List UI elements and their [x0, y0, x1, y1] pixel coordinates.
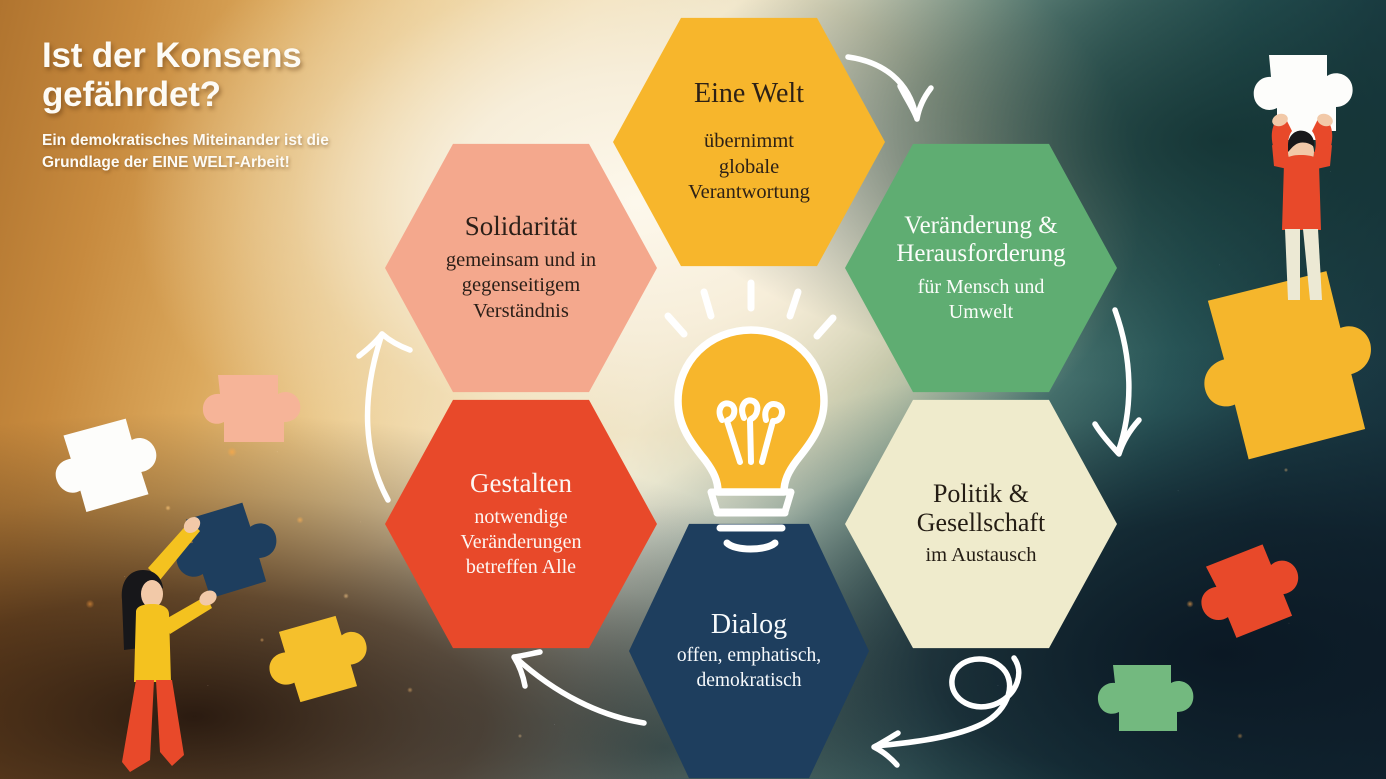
- page-title: Ist der Konsens gefährdet?: [42, 36, 382, 114]
- hexagon-subtitle: für Mensch und Umwelt: [918, 275, 1045, 325]
- hexagon-subtitle-line: betreffen Alle: [460, 555, 581, 580]
- hexagon-title-line: Gesellschaft: [917, 508, 1046, 537]
- hexagon-subtitle-line: übernimmt: [688, 129, 810, 155]
- hexagon-subtitle-line: globale: [688, 155, 810, 181]
- hexagon-subtitle-line: demokratisch: [677, 669, 821, 693]
- hexagon-subtitle-line: notwendige: [460, 505, 581, 530]
- hexagon-title: Eine Welt: [694, 78, 804, 109]
- hexagon-title: Solidarität: [465, 211, 577, 241]
- hexagon-subtitle-line: im Austausch: [925, 543, 1036, 569]
- hexagon-title: Veränderung & Herausforderung: [896, 212, 1065, 268]
- hexagon-subtitle-line: Veränderungen: [460, 530, 581, 555]
- header-block: Ist der Konsens gefährdet? Ein demokrati…: [42, 36, 382, 174]
- hexagon-subtitle: offen, emphatisch, demokratisch: [677, 644, 821, 693]
- hexagon-subtitle-line: gemeinsam und in: [446, 248, 596, 274]
- page-title-line1: Ist der Konsens: [42, 36, 302, 75]
- page-subtitle: Ein demokratisches Miteinander ist die G…: [42, 130, 382, 174]
- hexagon-title: Dialog: [711, 609, 787, 640]
- hexagon-subtitle-line: Umwelt: [918, 300, 1045, 325]
- hexagon-subtitle-line: Verständnis: [446, 299, 596, 325]
- hexagon-title: Politik & Gesellschaft: [917, 479, 1046, 537]
- infographic-canvas: Eine Welt übernimmt globale Verantwortun…: [0, 0, 1386, 779]
- hexagon-title: Gestalten: [470, 468, 572, 498]
- hexagon-subtitle: übernimmt globale Verantwortung: [688, 129, 810, 206]
- hexagon-subtitle-line: Verantwortung: [688, 180, 810, 206]
- hexagon-title-line: Veränderung &: [896, 212, 1065, 240]
- hexagon-subtitle: gemeinsam und in gegenseitigem Verständn…: [446, 248, 596, 325]
- hexagon-subtitle: im Austausch: [925, 543, 1036, 569]
- hexagon-subtitle-line: offen, emphatisch,: [677, 644, 821, 668]
- page-title-line2: gefährdet?: [42, 75, 221, 114]
- hexagon-title-line: Politik &: [917, 479, 1046, 508]
- hexagon-subtitle-line: gegenseitigem: [446, 273, 596, 299]
- hexagon-subtitle: notwendige Veränderungen betreffen Alle: [460, 505, 581, 580]
- hexagon-subtitle-line: für Mensch und: [918, 275, 1045, 300]
- hexagon-title-line: Herausforderung: [896, 240, 1065, 268]
